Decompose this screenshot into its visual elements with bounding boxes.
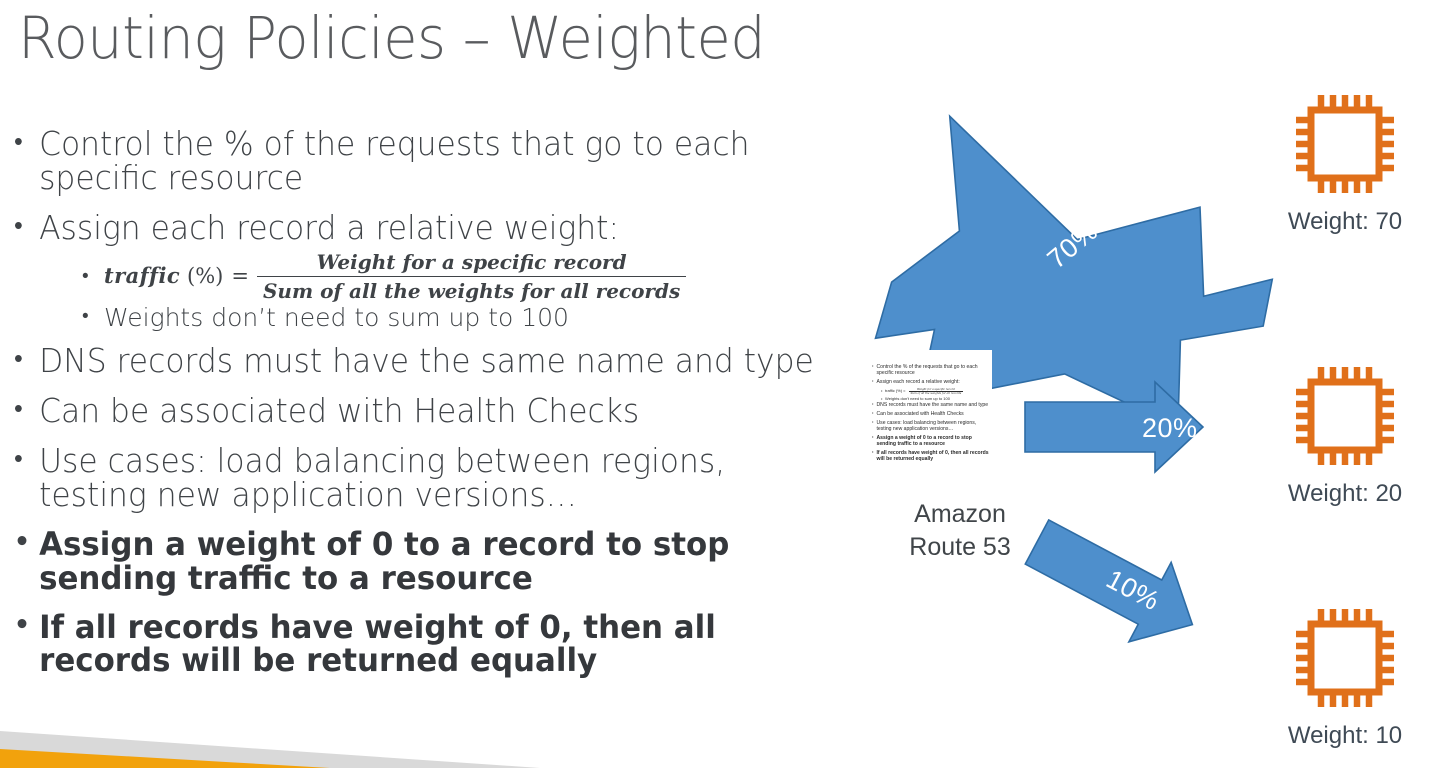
footer-ribbon-decoration bbox=[0, 698, 540, 768]
page-title: Routing Policies – Weighted bbox=[18, 4, 765, 72]
bullet-item: • Assign each record a relative weight: bbox=[14, 212, 825, 246]
bullet-marker: • bbox=[82, 264, 104, 290]
bullet-item: • DNS records must have the same name an… bbox=[14, 345, 825, 379]
ribbon-gray bbox=[0, 731, 540, 768]
formula-lhs: traffic bbox=[104, 265, 180, 288]
traffic-formula: traffic (%) = Weight for a specific reco… bbox=[104, 251, 686, 302]
thumb-bullet: • If all records have weight of 0, then … bbox=[872, 450, 990, 463]
bullet-text: Can be associated with Health Checks bbox=[39, 395, 825, 429]
thumb-bullet: • Use cases: load balancing between regi… bbox=[872, 420, 990, 433]
bullet-marker: • bbox=[82, 304, 104, 330]
target-70: Weight: 70 bbox=[1255, 88, 1435, 236]
bullet-marker: • bbox=[14, 611, 39, 641]
target-20: Weight: 20 bbox=[1255, 360, 1435, 508]
thumb-bullet-text: If all records have weight of 0, then al… bbox=[877, 450, 991, 463]
formula-equals: = bbox=[231, 265, 249, 288]
thumb-bullet-text: Use cases: load balancing between region… bbox=[877, 420, 991, 433]
target-20-caption: Weight: 20 bbox=[1255, 480, 1435, 508]
cpu-chip-icon bbox=[1289, 88, 1401, 200]
bullet-marker: • bbox=[14, 528, 39, 558]
thumb-bullet-text: Assign a weight of 0 to a record to stop… bbox=[877, 435, 991, 448]
thumb-formula-fraction: Weight for a specific record Sum of all … bbox=[909, 388, 964, 395]
bullet-text: Control the % of the requests that go to… bbox=[39, 128, 825, 196]
thumb-bullet: • Assign each record a relative weight: bbox=[872, 379, 990, 385]
thumb-bullet-text: Control the % of the requests that go to… bbox=[877, 364, 991, 377]
formula-lhs-suffix: (%) bbox=[187, 265, 223, 288]
bullet-marker: • bbox=[14, 128, 39, 158]
route53-thumbnail-content: • Control the % of the requests that go … bbox=[872, 364, 990, 465]
target-70-caption: Weight: 70 bbox=[1255, 208, 1435, 236]
thumb-formula-denominator: Sum of all the weights for all records bbox=[909, 391, 964, 395]
bullet-text: If all records have weight of 0, then al… bbox=[39, 611, 825, 678]
bullet-text: Assign each record a relative weight: bbox=[39, 212, 825, 246]
formula-numerator: Weight for a specific record bbox=[311, 251, 633, 275]
thumb-bullet: • Can be associated with Health Checks bbox=[872, 411, 990, 417]
bullet-marker: • bbox=[14, 445, 39, 475]
bullet-item-formula: • traffic (%) = Weight for a specific re… bbox=[82, 251, 854, 302]
bullet-list: • Control the % of the requests that go … bbox=[14, 128, 854, 693]
thumb-subbullet: • Weights don't need to sum up to 100 bbox=[881, 396, 990, 401]
thumb-bullet-text: Assign each record a relative weight: bbox=[877, 379, 960, 385]
bullet-text: Assign a weight of 0 to a record to stop… bbox=[39, 528, 825, 595]
route53-label: Amazon Route 53 bbox=[855, 498, 1065, 564]
target-10: Weight: 10 bbox=[1255, 602, 1435, 750]
thumb-bullet: • Assign a weight of 0 to a record to st… bbox=[872, 435, 990, 448]
route53-thumbnail: • Control the % of the requests that go … bbox=[868, 350, 992, 491]
thumb-bullet-text: Weights don't need to sum up to 100 bbox=[885, 396, 950, 401]
cpu-chip-icon bbox=[1289, 602, 1401, 714]
bullet-marker: • bbox=[14, 212, 39, 242]
bullet-item-emphasis: • If all records have weight of 0, then … bbox=[14, 611, 825, 678]
thumb-bullet-text: DNS records must have the same name and … bbox=[877, 402, 989, 408]
bullet-item: • Use cases: load balancing between regi… bbox=[14, 445, 825, 513]
formula-denominator: Sum of all the weights for all records bbox=[257, 276, 686, 302]
bullet-text: Use cases: load balancing between region… bbox=[39, 445, 825, 513]
bullet-item: • Can be associated with Health Checks bbox=[14, 395, 825, 429]
route53-label-line1: Amazon bbox=[855, 498, 1065, 531]
bullet-item: • Control the % of the requests that go … bbox=[14, 128, 825, 196]
weighted-routing-diagram: 70% 20% 10% • Control the % of the reque… bbox=[855, 70, 1437, 770]
ribbon-orange bbox=[0, 749, 330, 768]
cpu-chip-icon bbox=[1289, 360, 1401, 472]
formula-fraction: Weight for a specific record Sum of all … bbox=[257, 251, 686, 302]
thumb-bullet: • Control the % of the requests that go … bbox=[872, 364, 990, 377]
thumb-subbullet-formula: • traffic (%) = Weight for a specific re… bbox=[881, 388, 990, 395]
thumb-bullet: • DNS records must have the same name an… bbox=[872, 402, 990, 408]
bullet-item-emphasis: • Assign a weight of 0 to a record to st… bbox=[14, 528, 825, 595]
bullet-marker: • bbox=[14, 345, 39, 375]
thumb-bullet-text: Can be associated with Health Checks bbox=[877, 411, 964, 417]
bullet-text: DNS records must have the same name and … bbox=[39, 345, 825, 379]
bullet-text: Weights don’t need to sum up to 100 bbox=[104, 304, 569, 331]
target-10-caption: Weight: 10 bbox=[1255, 722, 1435, 750]
bullet-marker: • bbox=[14, 395, 39, 425]
route53-label-line2: Route 53 bbox=[855, 531, 1065, 564]
thumb-formula-lhs: traffic (%) = bbox=[885, 388, 906, 395]
bullet-item: • Weights don’t need to sum up to 100 bbox=[82, 304, 854, 331]
